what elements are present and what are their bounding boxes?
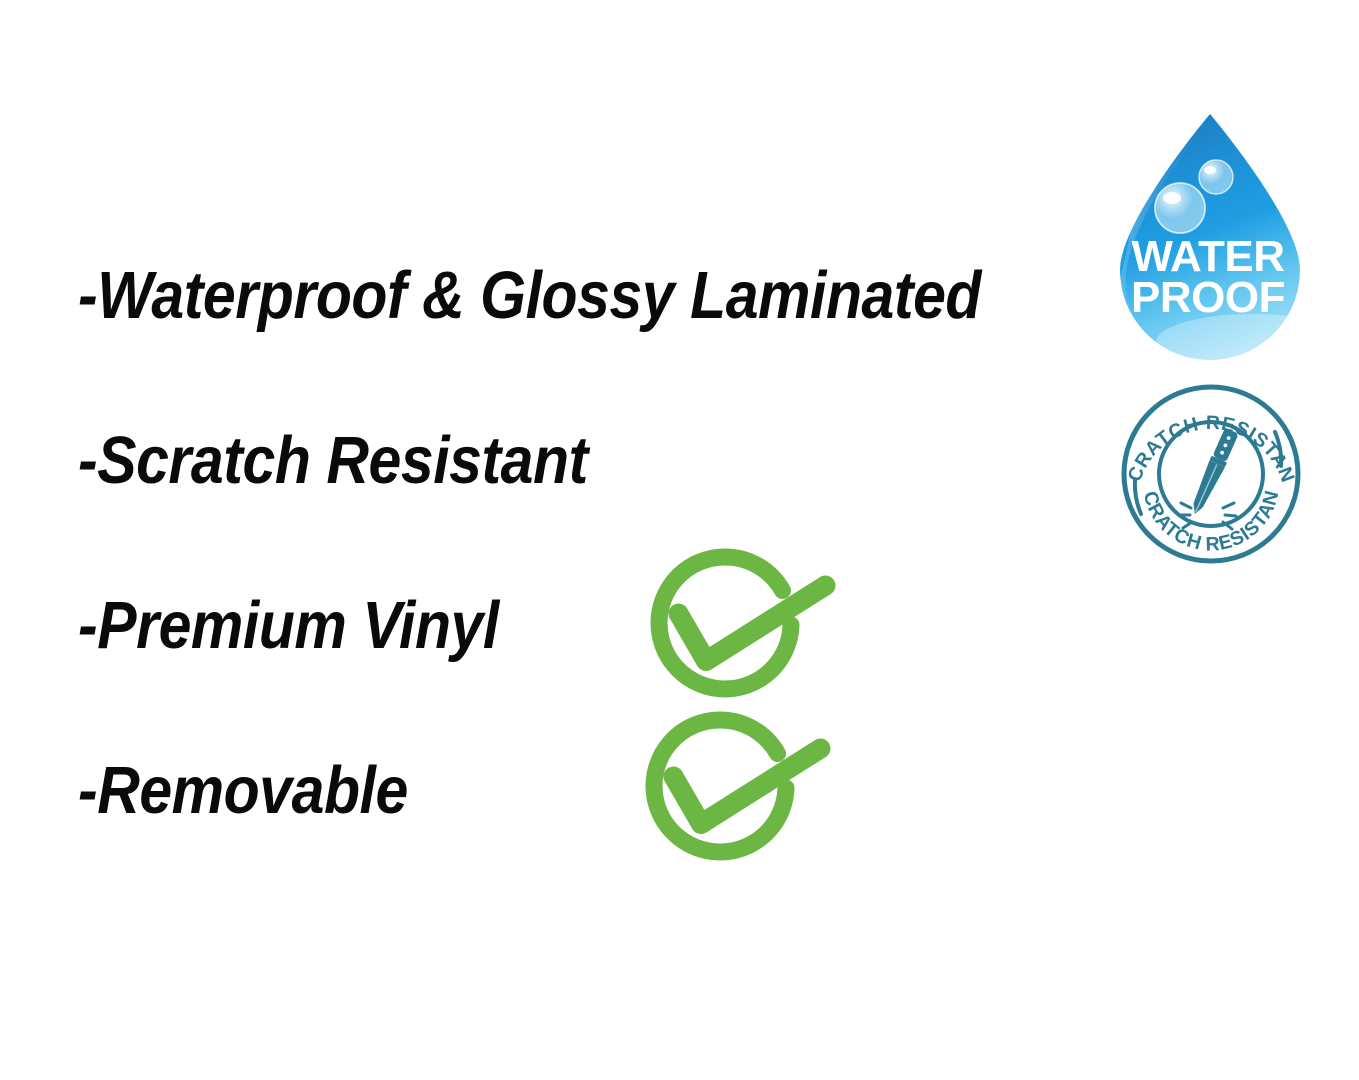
- waterproof-label-line2: PROOF: [1131, 273, 1285, 322]
- scratch-resistant-badge: SCRATCH RESISTANT SCRATCH RESISTANT: [1117, 382, 1305, 566]
- waterproof-badge: WATER PROOF: [1104, 104, 1316, 362]
- feature-item-premium-vinyl: -Premium Vinyl: [78, 592, 499, 659]
- feature-item-scratch-resistant: -Scratch Resistant: [78, 427, 588, 494]
- bubble-icon: [1155, 183, 1205, 233]
- feature-item-removable: -Removable: [78, 757, 408, 824]
- bubble-icon: [1199, 160, 1233, 194]
- check-circle-icon: [638, 720, 834, 876]
- feature-item-waterproof-glossy: -Waterproof & Glossy Laminated: [78, 262, 981, 329]
- promo-feature-graphic: -Waterproof & Glossy Laminated -Scratch …: [0, 0, 1359, 1080]
- check-circle-icon: [643, 557, 839, 713]
